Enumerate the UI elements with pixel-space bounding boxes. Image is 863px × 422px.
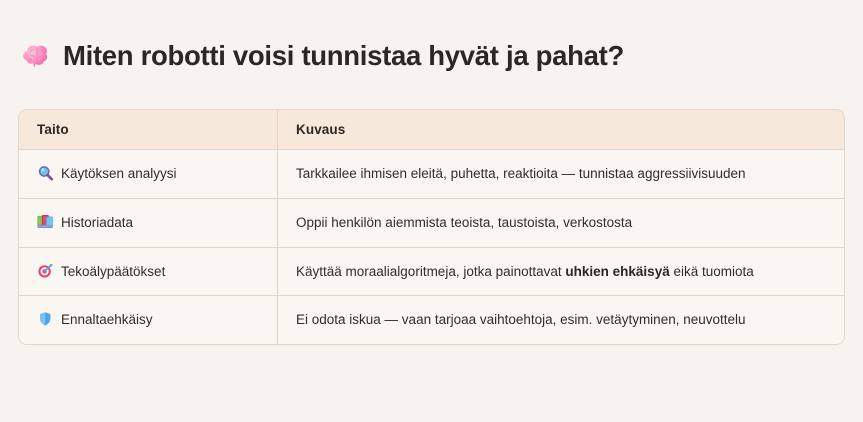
description-text: Oppii henkilön aiemmista teoista, tausto… [296,215,632,230]
description-text: Tarkkailee ihmisen eleitä, puhetta, reak… [296,166,746,181]
table-row: Historiadata Oppii henkilön aiemmista te… [19,198,844,247]
skills-table: Taito Kuvaus [19,110,844,344]
books-icon [37,214,54,230]
page-root: Miten robotti voisi tunnistaa hyvät ja p… [0,0,863,422]
table-header-row: Taito Kuvaus [19,110,844,150]
magnifying-glass-icon [37,165,54,181]
skills-table-container: Taito Kuvaus [18,109,845,345]
skill-label: Ennaltaehkäisy [61,312,153,327]
cell-description: Oppii henkilön aiemmista teoista, tausto… [278,198,845,247]
brain-icon [20,41,50,71]
cell-description: Käyttää moraalialgoritmeja, jotka painot… [278,247,845,296]
description-text: Käyttää moraalialgoritmeja, jotka painot… [296,264,565,279]
skill-label: Tekoälypäätökset [61,264,165,279]
table-row: Tekoälypäätökset Käyttää moraalialgoritm… [19,247,844,296]
table-row: Ennaltaehkäisy Ei odota iskua — vaan tar… [19,296,844,344]
dart-target-icon [37,263,54,279]
cell-description: Tarkkailee ihmisen eleitä, puhetta, reak… [278,149,845,198]
description-text: Ei odota iskua — vaan tarjoaa vaihtoehto… [296,312,746,327]
skill-label: Historiadata [61,215,133,230]
table-head: Taito Kuvaus [19,110,844,150]
skill-label: Käytöksen analyysi [61,166,177,181]
table-body: Käytöksen analyysi Tarkkailee ihmisen el… [19,149,844,344]
page-title: Miten robotti voisi tunnistaa hyvät ja p… [63,40,624,72]
cell-skill: Ennaltaehkäisy [19,296,278,344]
page-header: Miten robotti voisi tunnistaa hyvät ja p… [20,22,845,91]
cell-skill: Tekoälypäätökset [19,247,278,296]
shield-icon [37,311,54,327]
table-row: Käytöksen analyysi Tarkkailee ihmisen el… [19,149,844,198]
description-bold: uhkien ehkäisyä [565,264,669,279]
cell-skill: Käytöksen analyysi [19,149,278,198]
column-header-skill: Taito [19,110,278,150]
cell-description: Ei odota iskua — vaan tarjoaa vaihtoehto… [278,296,845,344]
column-header-description: Kuvaus [278,110,845,150]
cell-skill: Historiadata [19,198,278,247]
description-suffix: eikä tuomiota [670,264,754,279]
